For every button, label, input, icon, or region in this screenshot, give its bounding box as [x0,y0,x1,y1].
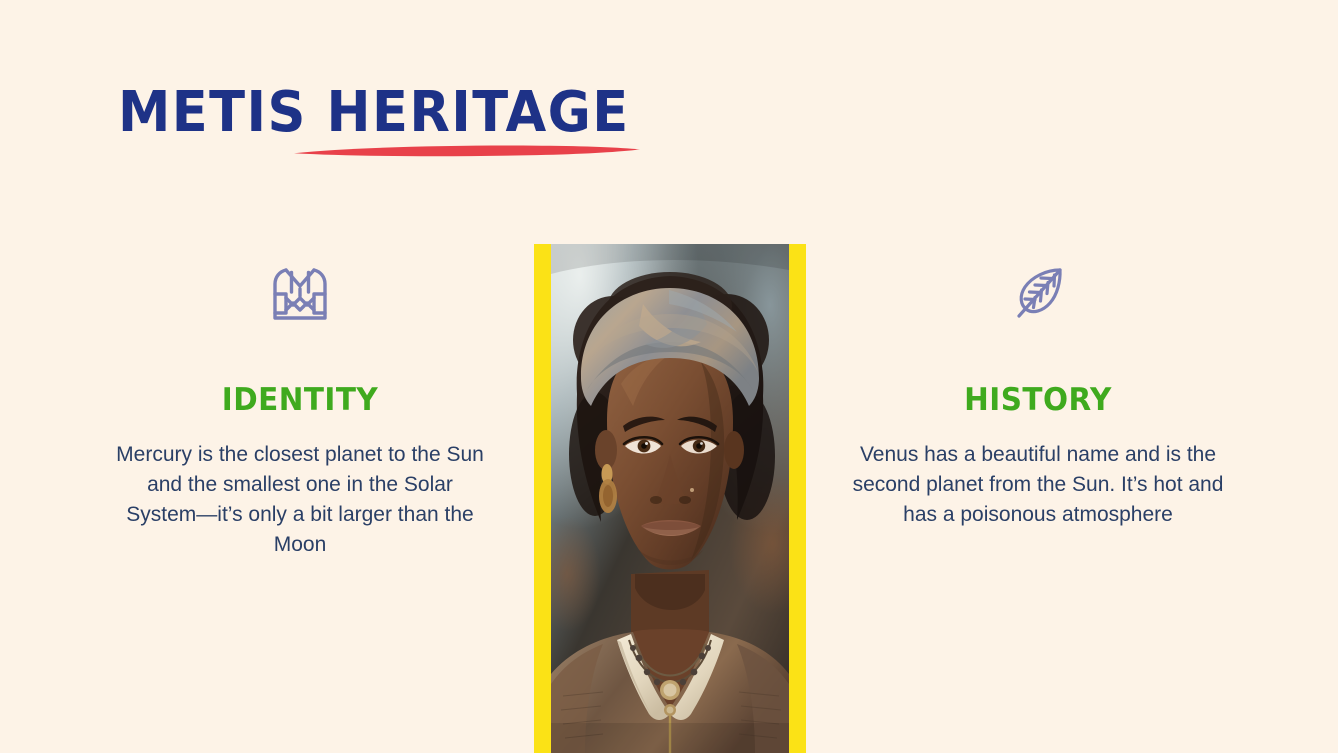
title-underline-stroke [293,144,641,157]
feather-icon [1002,258,1074,330]
column-heading: IDENTITY [101,382,500,418]
portrait-photo [551,244,789,753]
column-body-text: Venus has a beautiful name and is the se… [828,440,1248,530]
column-history: HISTORY Venus has a beautiful name and i… [828,258,1248,530]
column-heading: HISTORY [839,382,1238,418]
column-identity: IDENTITY Mercury is the closest planet t… [90,258,510,560]
title-block: METIS HERITAGE [118,82,818,172]
slide-canvas: METIS HERITAGE IDENTITY Mercury is the c… [0,0,1338,753]
column-body-text: Mercury is the closest planet to the Sun… [90,440,510,560]
sweater-icon [264,258,336,330]
photo-frame [534,244,806,753]
page-title: METIS HERITAGE [118,82,776,144]
